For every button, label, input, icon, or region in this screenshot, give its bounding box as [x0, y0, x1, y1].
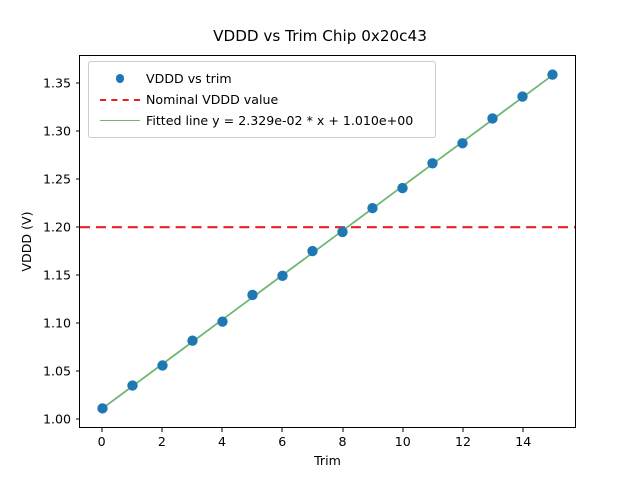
x-axis-label: Trim [79, 453, 576, 468]
x-tick-label: 8 [339, 434, 347, 449]
data-point [127, 380, 137, 390]
x-tick-label: 4 [218, 434, 226, 449]
x-axis-tick-marks [79, 428, 576, 432]
x-tick-label: 0 [98, 434, 106, 449]
x-tick-mark [402, 428, 403, 432]
y-tick-label: 1.05 [43, 363, 71, 378]
data-point [247, 290, 257, 300]
x-tick-mark [101, 428, 102, 432]
x-tick-mark [161, 428, 162, 432]
x-tick-label: 10 [395, 434, 411, 449]
y-tick-label: 1.00 [43, 411, 71, 426]
y-tick-label: 1.35 [43, 76, 71, 91]
y-tick-label: 1.15 [43, 268, 71, 283]
y-axis-label: VDDD (V) [17, 55, 37, 428]
page-title: VDDD vs Trim Chip 0x20c43 [0, 27, 640, 45]
data-point [157, 360, 167, 370]
data-point [397, 183, 407, 193]
legend-item-nominal: Nominal VDDD value [98, 89, 426, 110]
x-tick-mark [342, 428, 343, 432]
y-tick-label: 1.10 [43, 316, 71, 331]
legend-item-label: VDDD vs trim [142, 71, 232, 86]
legend-item-fit: Fitted line y = 2.329e-02 * x + 1.010e+0… [98, 110, 426, 131]
data-point [337, 227, 347, 237]
data-point [367, 203, 377, 213]
x-tick-mark [222, 428, 223, 432]
figure-canvas: VDDD vs Trim Chip 0x20c43 1.001.051.101.… [0, 0, 640, 480]
y-tick-label: 1.20 [43, 220, 71, 235]
x-tick-mark [463, 428, 464, 432]
marker-dot-icon [98, 72, 142, 86]
legend-item-label: Fitted line y = 2.329e-02 * x + 1.010e+0… [142, 113, 413, 128]
legend: VDDD vs trim Nominal VDDD value Fitted l… [88, 61, 436, 138]
legend-item-scatter: VDDD vs trim [98, 68, 426, 89]
y-tick-label: 1.30 [43, 124, 71, 139]
data-point [277, 271, 287, 281]
x-tick-mark [282, 428, 283, 432]
legend-item-label: Nominal VDDD value [142, 92, 278, 107]
x-tick-label: 6 [278, 434, 286, 449]
data-point [187, 336, 197, 346]
solid-line-icon [98, 114, 142, 128]
dashed-line-icon [98, 93, 142, 107]
data-point [307, 246, 317, 256]
data-point [547, 69, 557, 79]
x-tick-label: 2 [158, 434, 166, 449]
data-point [427, 158, 437, 168]
x-tick-mark [523, 428, 524, 432]
x-tick-label: 14 [515, 434, 531, 449]
data-point [517, 91, 527, 101]
x-tick-label: 12 [455, 434, 471, 449]
data-point [97, 403, 107, 413]
x-axis-tick-labels: 02468101214 [79, 434, 576, 452]
data-point [457, 138, 467, 148]
data-point [487, 113, 497, 123]
y-tick-label: 1.25 [43, 172, 71, 187]
data-point [217, 316, 227, 326]
